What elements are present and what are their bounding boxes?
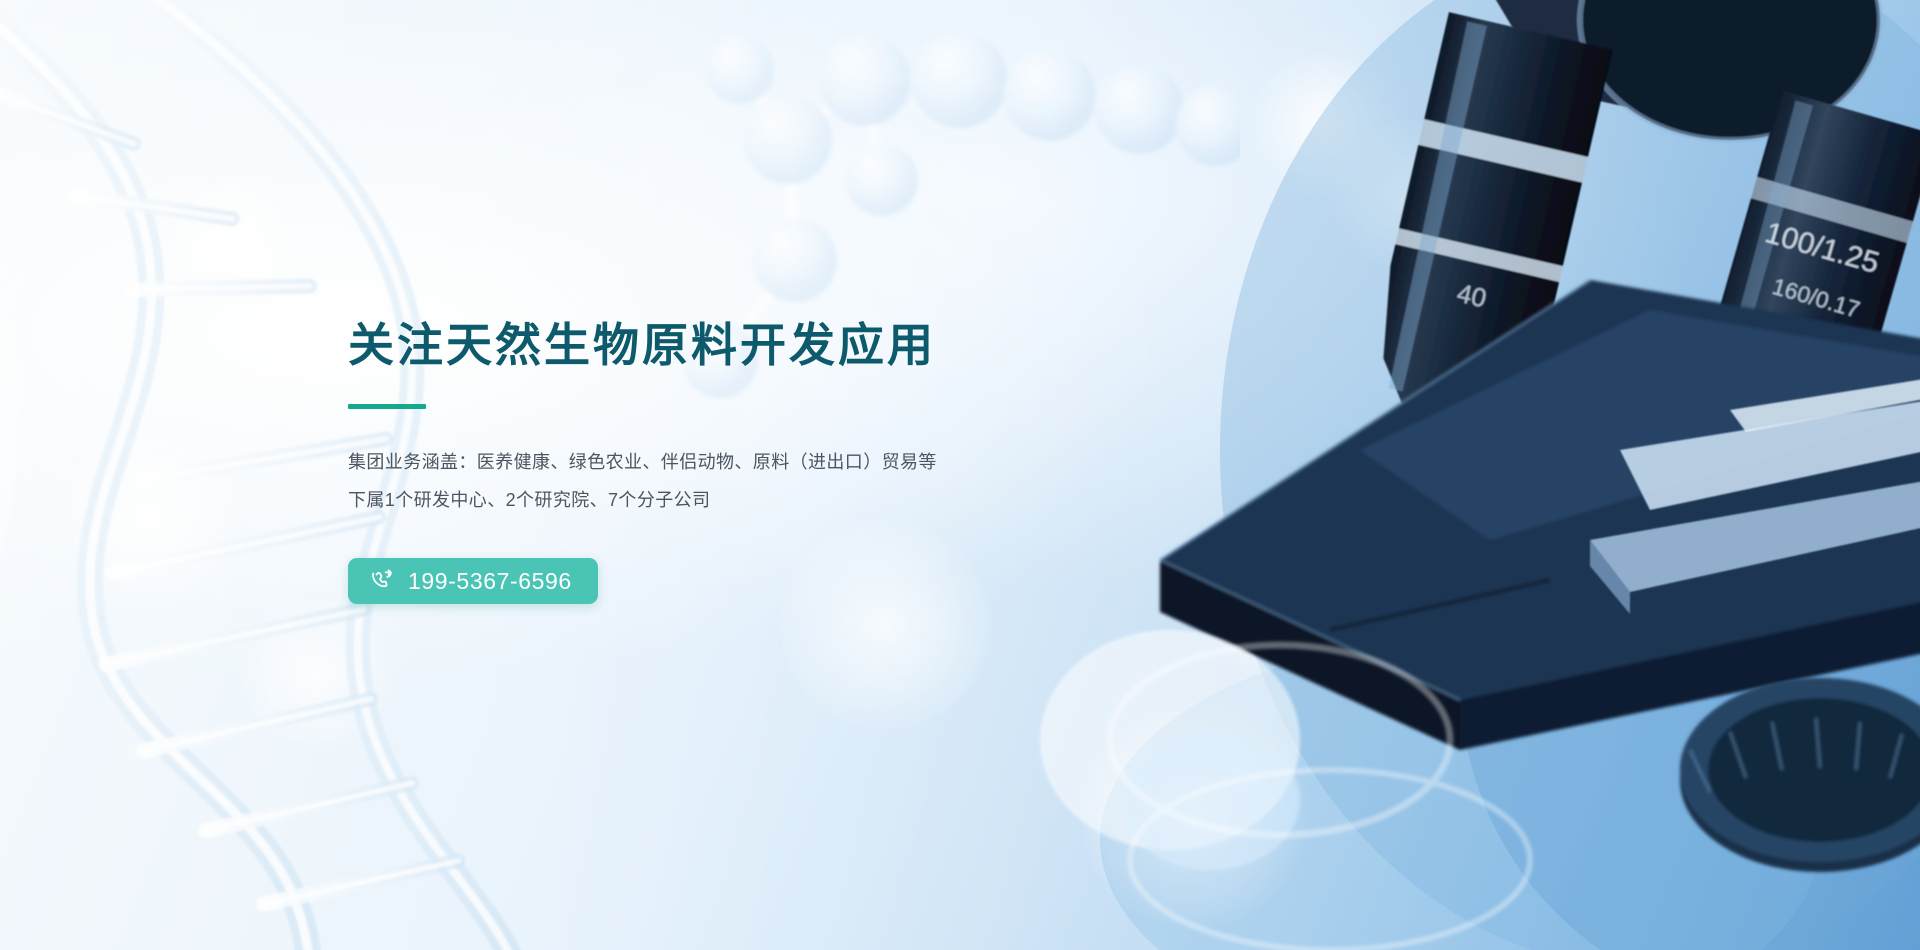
svg-text:100: 100 <box>1769 350 1815 387</box>
phone-number-label: 199-5367-6596 <box>408 570 572 593</box>
svg-text:100/1.25: 100/1.25 <box>1761 216 1882 280</box>
svg-text:160/0.17: 160/0.17 <box>1769 273 1862 323</box>
hero-banner: 40 100/1.25 160/0.17 100 <box>0 0 1920 950</box>
bokeh-circle <box>1230 30 1420 220</box>
phone-forward-icon <box>370 569 394 593</box>
page-title: 关注天然生物原料开发应用 <box>348 318 1048 372</box>
svg-text:40: 40 <box>1454 278 1489 314</box>
description-line-2: 下属1个研发中心、2个研究院、7个分子公司 <box>348 481 1048 519</box>
description-line-1: 集团业务涵盖：医养健康、绿色农业、伴侣动物、原料（进出口）贸易等 <box>348 443 1048 481</box>
bokeh-circle <box>170 180 290 300</box>
title-accent-rule <box>348 404 426 409</box>
bokeh-circle <box>240 600 390 750</box>
bokeh-circle <box>1420 250 1540 370</box>
bokeh-circle <box>1080 700 1310 930</box>
microscope-graphic: 40 100/1.25 160/0.17 100 <box>1030 0 1920 950</box>
hero-content: 关注天然生物原料开发应用 集团业务涵盖：医养健康、绿色农业、伴侣动物、原料（进出… <box>348 318 1048 604</box>
phone-call-button[interactable]: 199-5367-6596 <box>348 558 598 604</box>
bokeh-circle <box>1200 520 1360 680</box>
bokeh-circle <box>60 430 240 610</box>
bokeh-circle <box>1330 120 1480 270</box>
